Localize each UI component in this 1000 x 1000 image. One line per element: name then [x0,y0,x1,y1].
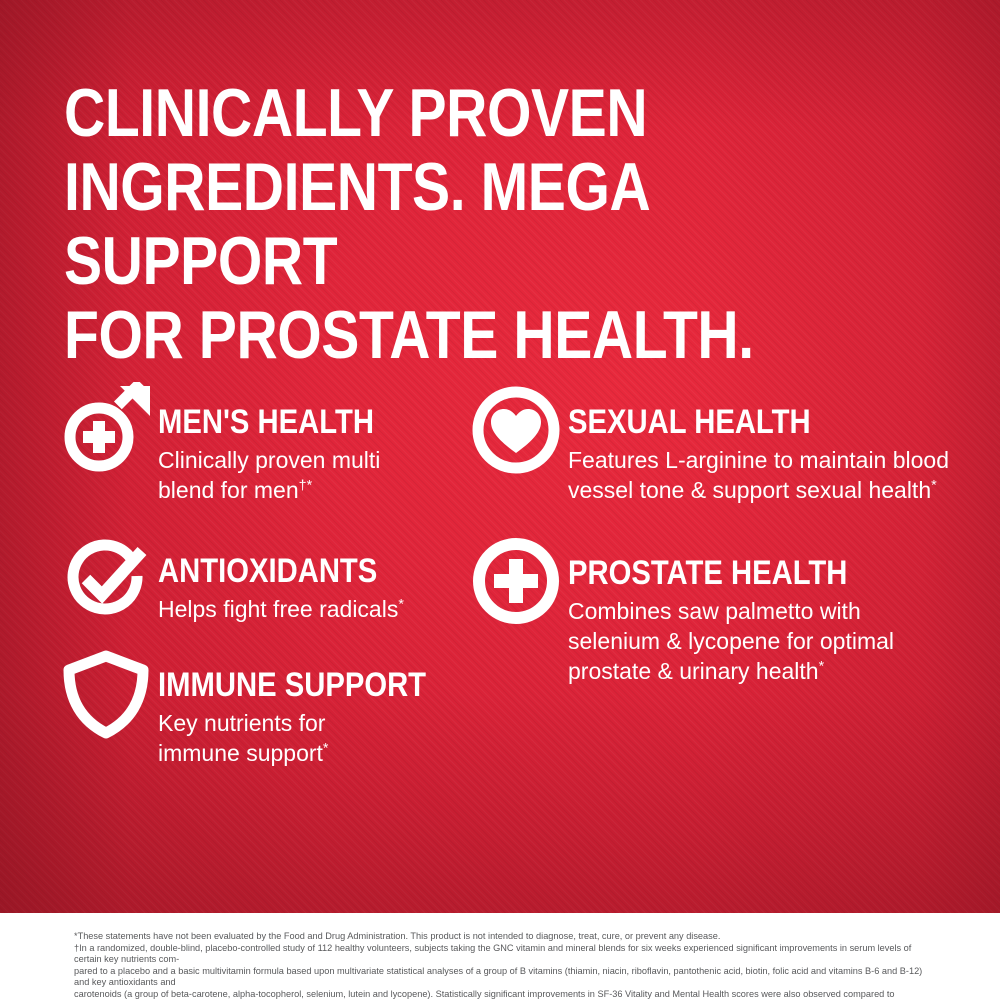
check-circle-icon [58,531,154,627]
feature-grid: MEN'S HEALTH Clinically proven multi ble… [0,382,1000,812]
feature-column-left: MEN'S HEALTH Clinically proven multi ble… [58,382,458,790]
feature-text: ANTIOXIDANTS Helps fight free radicals* [158,531,458,624]
footnote-marker: * [323,740,329,756]
feature-text: SEXUAL HEALTH Features L-arginine to mai… [568,382,968,505]
feature-description-text: Key nutrients for immune support [158,710,325,766]
footnote-marker: * [819,658,825,674]
feature-description: Helps fight free radicals* [158,594,458,624]
heart-circle-icon [468,382,564,478]
feature-title: ANTIOXIDANTS [158,553,416,589]
footnote-line-3: pared to a placebo and a basic multivita… [74,966,930,989]
feature-title: SEXUAL HEALTH [568,404,912,440]
poster-canvas: CLINICALLY PROVEN INGREDIENTS. MEGA SUPP… [0,0,1000,1000]
feature-description-text: Combines saw palmetto with selenium & ly… [568,598,894,684]
feature-text: IMMUNE SUPPORT Key nutrients for immune … [158,645,458,768]
feature-antioxidants: ANTIOXIDANTS Helps fight free radicals* [58,531,458,627]
feature-title: IMMUNE SUPPORT [158,667,416,703]
feature-description: Combines saw palmetto with selenium & ly… [568,596,968,686]
feature-column-right: SEXUAL HEALTH Features L-arginine to mai… [468,382,968,708]
feature-immune-support: IMMUNE SUPPORT Key nutrients for immune … [58,645,458,768]
footnote-line-2: †In a randomized, double-blind, placebo-… [74,943,930,966]
feature-prostate-health: PROSTATE HEALTH Combines saw palmetto wi… [468,533,968,686]
feature-description-text: Clinically proven multi blend for men [158,447,380,503]
footnote-line-1: *These statements have not been evaluate… [74,931,930,943]
feature-sexual-health: SEXUAL HEALTH Features L-arginine to mai… [468,382,968,505]
footnote-marker: * [931,477,937,493]
feature-text: PROSTATE HEALTH Combines saw palmetto wi… [568,533,968,686]
feature-description: Clinically proven multi blend for men†* [158,445,458,505]
feature-description: Key nutrients for immune support* [158,708,458,768]
shield-icon [58,645,154,741]
footnote-block: *These statements have not been evaluate… [74,931,930,1000]
feature-text: MEN'S HEALTH Clinically proven multi ble… [158,382,458,505]
headline: CLINICALLY PROVEN INGREDIENTS. MEGA SUPP… [64,76,803,372]
cross-circle-icon [468,533,564,629]
footnote-marker: †* [299,477,312,493]
male-symbol-with-cross-icon [58,382,154,478]
feature-mens-health: MEN'S HEALTH Clinically proven multi ble… [58,382,458,505]
footnote-line-4: carotenoids (a group of beta-carotene, a… [74,989,930,1000]
feature-description-text: Features L-arginine to maintain blood ve… [568,447,949,503]
feature-description-text: Helps fight free radicals [158,596,398,622]
footnote-marker: * [398,596,404,612]
feature-description: Features L-arginine to maintain blood ve… [568,445,968,505]
feature-title: PROSTATE HEALTH [568,555,912,591]
feature-title: MEN'S HEALTH [158,404,416,440]
